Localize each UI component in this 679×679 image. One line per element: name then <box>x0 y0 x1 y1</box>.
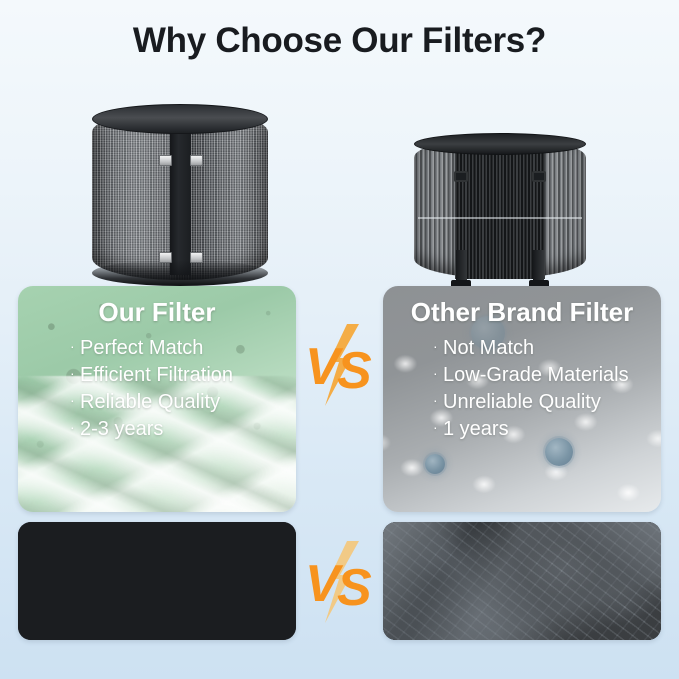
bullet-dot-icon: · <box>70 334 80 359</box>
pleated-filter-top-rim <box>414 133 586 155</box>
list-item-label: Low-Grade Materials <box>443 364 629 386</box>
list-item: ·Reliable Quality <box>70 388 233 415</box>
bullet-dot-icon: · <box>70 415 80 440</box>
list-item: ·1 years <box>433 415 629 442</box>
card-heading-other-brand-filter: Other Brand Filter <box>383 297 661 328</box>
comparison-card-our-filter: Our Filter ·Perfect Match ·Efficient Fil… <box>18 286 296 512</box>
bullet-dot-icon: · <box>433 334 443 359</box>
feature-list-our-filter: ·Perfect Match ·Efficient Filtration ·Re… <box>70 334 233 442</box>
bullet-dot-icon: · <box>433 415 443 440</box>
list-item-label: Reliable Quality <box>80 391 220 413</box>
filter-clip-icon <box>159 155 172 166</box>
bullet-dot-icon: · <box>433 388 443 413</box>
list-item: ·Efficient Filtration <box>70 361 233 388</box>
charcoal-chunk-texture <box>383 522 661 640</box>
carbon-pellet-texture <box>18 522 296 640</box>
filter-clip-icon <box>454 171 468 182</box>
list-item: ·Not Match <box>433 334 629 361</box>
list-item: ·Perfect Match <box>70 334 233 361</box>
material-image-raw-charcoal-chunks <box>383 522 661 640</box>
vs-badge-cards: V S <box>303 322 377 408</box>
vs-badge-materials: V S <box>303 539 377 625</box>
pleated-filter-band <box>418 217 582 219</box>
pleated-filter-center <box>455 143 545 279</box>
mesh-filter-top-rim <box>92 104 268 134</box>
bullet-dot-icon: · <box>70 388 80 413</box>
list-item-label: 1 years <box>443 418 509 440</box>
comparison-card-other-brand-filter: Other Brand Filter ·Not Match ·Low-Grade… <box>383 286 661 512</box>
card-heading-our-filter: Our Filter <box>18 297 296 328</box>
filter-clip-icon <box>190 155 203 166</box>
list-item-label: Perfect Match <box>80 337 203 359</box>
infographic-poster: Why Choose Our Filters? Our Filter ·Perf… <box>0 0 679 679</box>
mesh-filter-bottom-rim <box>92 260 268 286</box>
filter-clip-icon <box>190 252 203 263</box>
svg-text:S: S <box>337 559 372 617</box>
bullet-dot-icon: · <box>433 361 443 386</box>
bullet-dot-icon: · <box>70 361 80 386</box>
list-item: ·Low-Grade Materials <box>433 361 629 388</box>
filter-clip-icon <box>532 171 546 182</box>
page-title: Why Choose Our Filters? <box>0 21 679 61</box>
filter-clip-icon <box>159 252 172 263</box>
list-item: ·Unreliable Quality <box>433 388 629 415</box>
product-image-our-filter <box>92 104 268 286</box>
list-item-label: Not Match <box>443 337 534 359</box>
list-item: ·2-3 years <box>70 415 233 442</box>
svg-text:S: S <box>337 342 372 400</box>
mesh-filter-seam <box>170 120 191 275</box>
list-item-label: Unreliable Quality <box>443 391 601 413</box>
product-image-other-brand-filter <box>414 133 586 286</box>
feature-list-other-brand-filter: ·Not Match ·Low-Grade Materials ·Unrelia… <box>433 334 629 442</box>
material-image-activated-carbon-pellets <box>18 522 296 640</box>
list-item-label: 2-3 years <box>80 418 163 440</box>
list-item-label: Efficient Filtration <box>80 364 233 386</box>
